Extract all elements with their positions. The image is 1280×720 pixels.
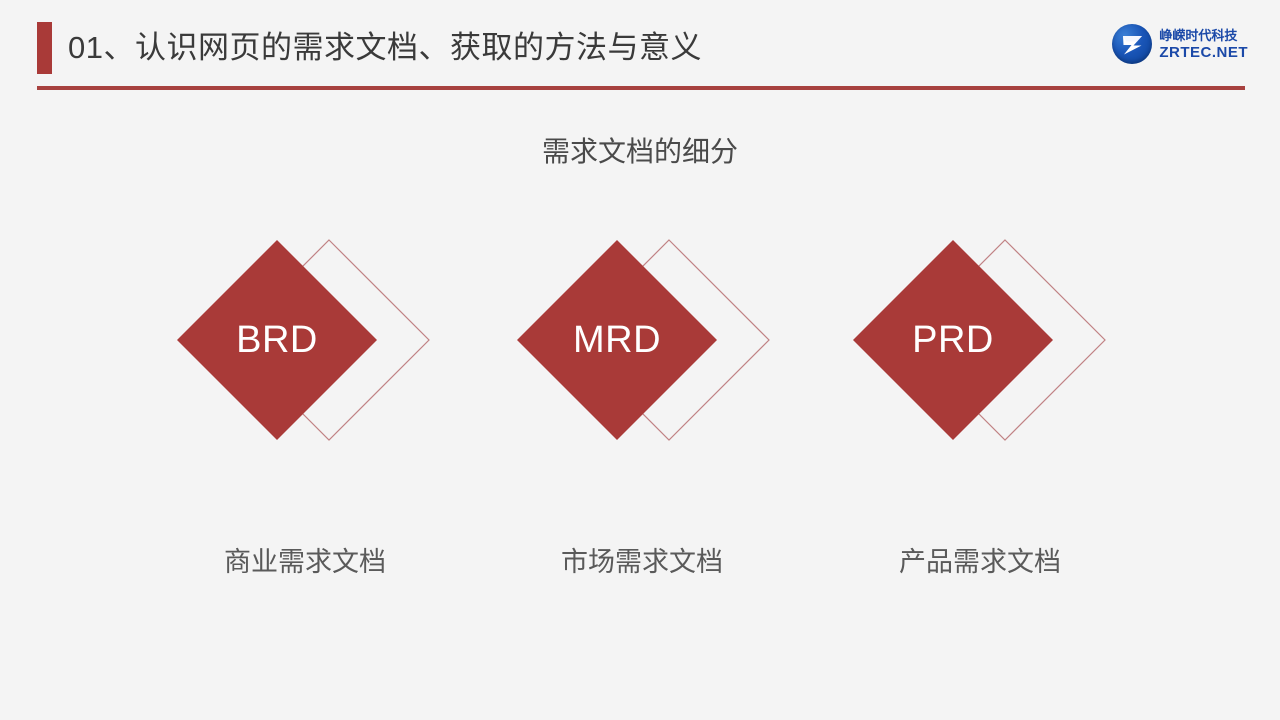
logo-name-cn: 峥嵘时代科技 — [1159, 29, 1248, 42]
zrtec-logo-icon — [1112, 24, 1152, 64]
logo-name-en: ZRTEC.NET — [1159, 45, 1248, 60]
brand-logo: 峥嵘时代科技 ZRTEC.NET — [1112, 22, 1248, 66]
header-divider — [37, 86, 1245, 90]
page-title: 01、认识网页的需求文档、获取的方法与意义 — [68, 26, 702, 70]
section-subtitle: 需求文档的细分 — [0, 130, 1280, 170]
caption-brd: 商业需求文档 — [155, 540, 455, 579]
title-accent-bar — [37, 22, 52, 74]
diamond-label-prd: PRD — [853, 318, 1053, 362]
caption-mrd: 市场需求文档 — [492, 540, 792, 579]
logo-wordmark: 峥嵘时代科技 ZRTEC.NET — [1159, 29, 1248, 60]
slide-header: 01、认识网页的需求文档、获取的方法与意义 峥嵘时代科技 ZRTEC.NET — [0, 0, 1280, 95]
diamond-label-brd: BRD — [177, 318, 377, 362]
diamond-label-mrd: MRD — [517, 318, 717, 362]
caption-prd: 产品需求文档 — [830, 540, 1130, 579]
